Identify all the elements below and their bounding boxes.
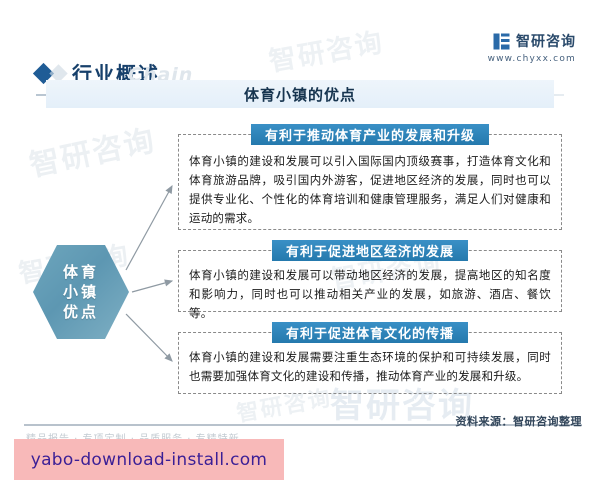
slide-canvas: 智研咨询 智研咨询 智研咨询 智研咨询 智研咨询 智研咨询 行业概述 Chain…	[0, 0, 600, 480]
content-box: 有利于推动体育产业的发展和升级 体育小镇的建设和发展可以引入国际国内顶级赛事，打…	[178, 134, 562, 230]
content-box: 有利于促进体育文化的传播 体育小镇的建设和发展需要注重生态环境的保护和可持续发展…	[178, 332, 562, 394]
content-box-heading-text: 有利于推动体育产业的发展和升级	[265, 125, 475, 144]
zhiyan-logo-icon	[493, 33, 510, 50]
content-box-body: 体育小镇的建设和发展可以引入国际国内顶级赛事，打造体育文化和体育旅游品牌，吸引国…	[179, 135, 561, 234]
content-box-heading: 有利于推动体育产业的发展和升级	[251, 124, 489, 145]
content-box-body: 体育小镇的建设和发展可以带动地区经济的发展，提高地区的知名度和影响力，同时也可以…	[179, 251, 561, 329]
brand-block: 智研咨询 www.chyxx.com	[488, 31, 576, 64]
content-box-heading: 有利于促进体育文化的传播	[272, 322, 468, 343]
page-title: 体育小镇的优点	[46, 80, 554, 108]
content-box: 有利于促进地区经济的发展 体育小镇的建设和发展可以带动地区经济的发展，提高地区的…	[178, 250, 562, 312]
overlay-banner: yabo-download-install.com	[14, 439, 284, 480]
brand-name: 智研咨询	[516, 31, 576, 51]
page-title-text: 体育小镇的优点	[244, 84, 356, 105]
source-note: 资料来源：智研咨询整理	[456, 413, 583, 429]
hexagon-node: 体育 小镇 优点	[33, 243, 129, 341]
overlay-banner-text: yabo-download-install.com	[31, 450, 268, 470]
brand-url: www.chyxx.com	[488, 54, 576, 64]
background-watermark: 智研咨询	[25, 115, 159, 185]
content-box-heading-text: 有利于促进地区经济的发展	[286, 241, 454, 260]
hexagon-line-3: 优点	[63, 303, 99, 322]
hexagon-line-1: 体育	[63, 263, 99, 282]
content-box-heading-text: 有利于促进体育文化的传播	[286, 323, 454, 342]
hexagon-line-2: 小镇	[63, 283, 99, 302]
content-box-heading: 有利于促进地区经济的发展	[272, 240, 468, 261]
